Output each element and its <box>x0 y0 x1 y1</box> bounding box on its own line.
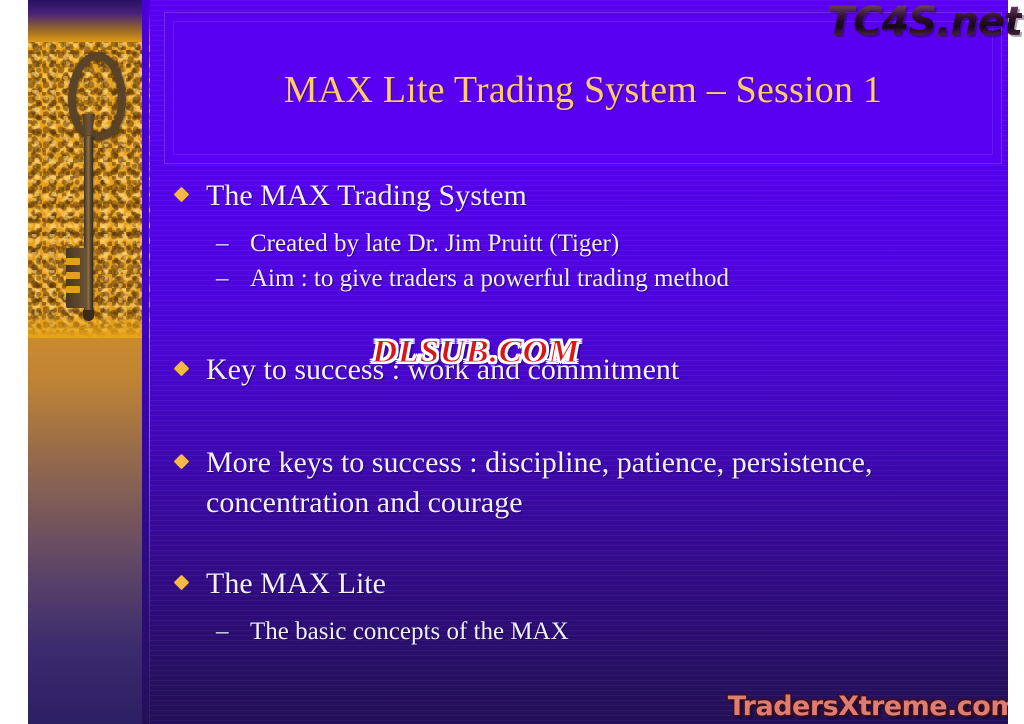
antique-key-icon <box>54 52 124 320</box>
spacer <box>172 604 1000 614</box>
band-edge-divider <box>142 0 149 724</box>
tc4s-logo: TC4S.net <box>827 2 1022 42</box>
spacer <box>172 389 1000 443</box>
left-decorative-band <box>28 0 150 724</box>
key-tip <box>83 310 94 321</box>
diamond-bullet-icon <box>174 454 190 470</box>
bullet-text: Created by late Dr. Jim Pruitt (Tiger) <box>250 230 619 257</box>
bullet-item-level1: More keys to success : discipline, patie… <box>172 443 1000 522</box>
bullet-text: Aim : to give traders a powerful trading… <box>250 265 729 292</box>
bullet-text: The MAX Trading System <box>206 179 527 212</box>
bullet-text: More keys to success : discipline, patie… <box>206 446 872 519</box>
bullet-item-level2: – The basic concepts of the MAX <box>172 614 1000 649</box>
dash-bullet-icon: – <box>216 614 229 649</box>
band-top-fade <box>28 0 150 42</box>
bullet-item-level1: Key to success : work and commitment <box>172 350 1000 390</box>
key-tooth <box>66 272 80 279</box>
spacer <box>172 296 1000 350</box>
dash-bullet-icon: – <box>216 226 229 261</box>
bullet-item-level2: – Created by late Dr. Jim Pruitt (Tiger) <box>172 226 1000 261</box>
slide-content: The MAX Trading System – Created by late… <box>172 176 1000 649</box>
page-title: MAX Lite Trading System – Session 1 <box>164 70 1002 112</box>
bullet-text: The basic concepts of the MAX <box>250 618 569 645</box>
bullet-text: The MAX Lite <box>206 567 386 600</box>
dash-bullet-icon: – <box>216 261 229 296</box>
key-tooth <box>66 286 80 293</box>
right-page-margin <box>1008 46 1024 724</box>
watermark-dlsub: DLSUB.COM <box>372 334 580 371</box>
presentation-slide: MAX Lite Trading System – Session 1 The … <box>0 0 1024 724</box>
key-tooth <box>66 258 80 265</box>
bullet-item-level2: – Aim : to give traders a powerful tradi… <box>172 261 1000 296</box>
bullet-item-level1: The MAX Lite <box>172 564 1000 604</box>
spacer <box>172 216 1000 226</box>
left-page-margin <box>0 0 28 724</box>
bullet-item-level1: The MAX Trading System <box>172 176 1000 216</box>
diamond-bullet-icon <box>174 187 190 203</box>
key-bow <box>68 52 126 140</box>
spacer <box>172 522 1000 564</box>
diamond-bullet-icon <box>174 575 190 591</box>
diamond-bullet-icon <box>174 360 190 376</box>
tradersxtreme-logo: TradersXtreme.com <box>728 693 1018 720</box>
